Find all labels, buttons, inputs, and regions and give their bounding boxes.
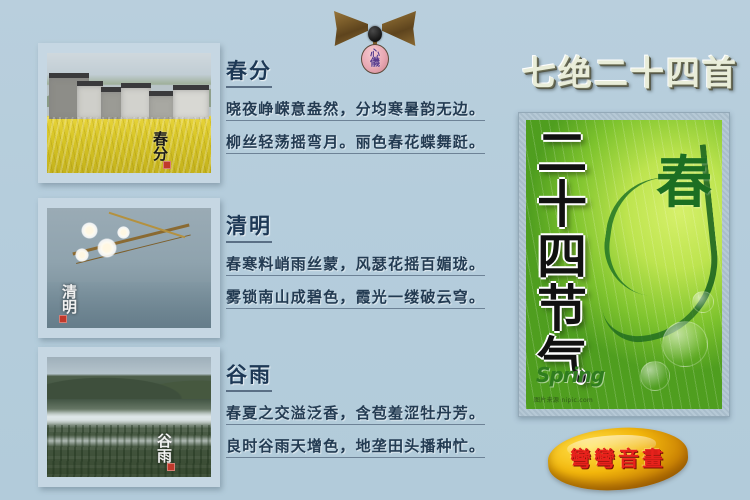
poem-line: 柳丝轻荡摇弯月。丽色春花蝶舞跹。 bbox=[226, 131, 485, 154]
poem-line: 春寒料峭雨丝蒙，风瑟花摇百媚珑。 bbox=[226, 253, 485, 276]
poster-frame: 春 二十四节气 Spring 图片来源 nipic.com bbox=[518, 112, 730, 417]
poster-english-word: Spring bbox=[536, 363, 604, 387]
photo-village-houses bbox=[47, 71, 211, 119]
photo-blossom bbox=[81, 222, 98, 239]
bow-right-loop-icon bbox=[382, 8, 416, 46]
signature-badge: 彎彎音畫 bbox=[548, 428, 688, 490]
photo-blossom bbox=[117, 226, 130, 239]
bow-left-loop-icon bbox=[334, 8, 368, 46]
poster-vertical-title: 二十四节气 bbox=[534, 126, 582, 386]
photo-forest bbox=[47, 425, 211, 477]
photo-blossom bbox=[97, 238, 117, 258]
poem-line: 雾锁南山成碧色，霞光一缕破云穹。 bbox=[226, 286, 485, 309]
photo-guyu: 谷雨 bbox=[47, 357, 211, 477]
stamp-frame: 清明 bbox=[38, 198, 220, 338]
badge-label: 彎彎音畫 bbox=[548, 443, 688, 473]
poem-title: 春分 bbox=[226, 55, 272, 88]
poster-bubble bbox=[662, 321, 708, 367]
photo-chunfen: 春分 bbox=[47, 53, 211, 173]
poem-text-block: 谷雨 春夏之交溢泛香，含苞羞涩牡丹芳。 良时谷雨天增色，地垄田头播种忙。 bbox=[226, 359, 546, 458]
poem-line: 晓夜峥嵘意盎然，分均寒暑韵无边。 bbox=[226, 98, 485, 121]
photo-mountain-ridge bbox=[47, 365, 211, 399]
stamp-caption: 谷雨 bbox=[156, 433, 171, 463]
stamp-caption: 清明 bbox=[61, 284, 76, 314]
red-seal-icon bbox=[59, 315, 67, 323]
poster-season-char: 春 bbox=[656, 138, 712, 219]
photo-rapeseed-field bbox=[47, 117, 211, 173]
poem-text-block: 春分 晓夜峥嵘意盎然，分均寒暑韵无边。 柳丝轻荡摇弯月。丽色春花蝶舞跹。 bbox=[226, 55, 546, 154]
poem-text-block: 清明 春寒料峭雨丝蒙，风瑟花摇百媚珑。 雾锁南山成碧色，霞光一缕破云穹。 bbox=[226, 210, 546, 309]
poster-credit: 图片来源 nipic.com bbox=[534, 395, 593, 404]
photo-qingming: 清明 bbox=[47, 208, 211, 328]
stamp-frame: 春分 bbox=[38, 43, 220, 183]
poster-image: 春 二十四节气 Spring 图片来源 nipic.com bbox=[526, 120, 722, 409]
poem-title: 谷雨 bbox=[226, 359, 272, 392]
bow-knot-icon bbox=[368, 26, 382, 42]
poem-line: 春夏之交溢泛香，含苞羞涩牡丹芳。 bbox=[226, 402, 485, 425]
poster-bubble bbox=[640, 361, 670, 391]
photo-mist bbox=[47, 409, 211, 425]
page-root: 心 儀 七绝二十四首 春分 春分 晓夜峥嵘意盎然，分均寒暑韵无边。 bbox=[0, 0, 750, 500]
poem-line: 良时谷雨天增色，地垄田头播种忙。 bbox=[226, 435, 485, 458]
stamp-caption: 春分 bbox=[152, 131, 167, 161]
poster-bubble bbox=[692, 291, 714, 313]
red-seal-icon bbox=[167, 463, 175, 471]
poem-title: 清明 bbox=[226, 210, 272, 243]
red-seal-icon bbox=[163, 161, 171, 169]
stamp-frame: 谷雨 bbox=[38, 347, 220, 487]
page-title: 七绝二十四首 bbox=[515, 46, 745, 95]
photo-blossom bbox=[75, 248, 89, 262]
